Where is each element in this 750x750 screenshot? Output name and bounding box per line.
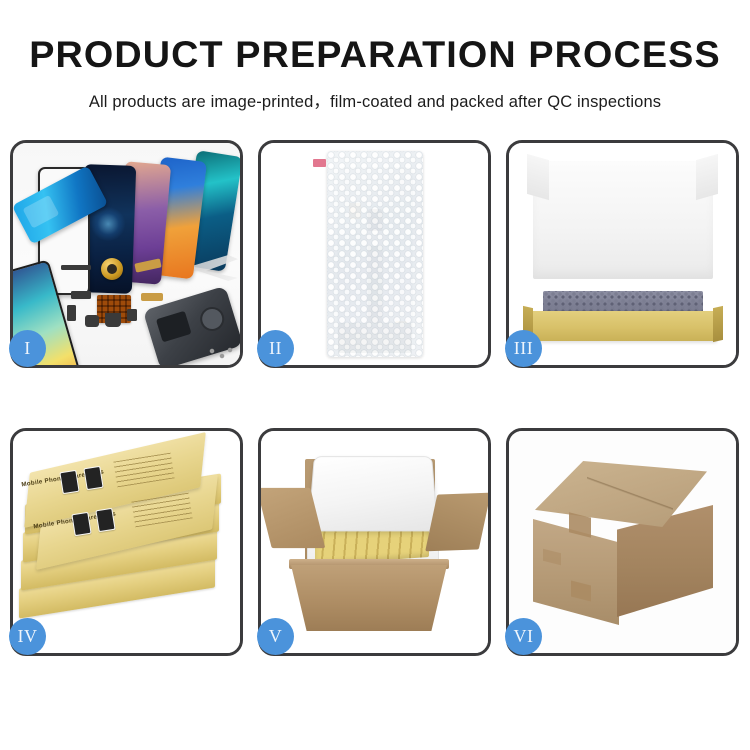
carton-front-panel xyxy=(291,565,447,631)
process-step-1: I xyxy=(10,140,243,368)
box-art-phone-a xyxy=(59,470,79,494)
carton-with-foam-box-image xyxy=(261,431,488,653)
flex-cable-part-b xyxy=(141,293,163,301)
carton-left-face xyxy=(533,519,619,625)
connector-part-a xyxy=(71,291,91,299)
button-part xyxy=(85,315,99,327)
step-badge-4: IV xyxy=(9,618,46,655)
process-step-4: Mobile Phone Spare Parts Mobile Phone Sp… xyxy=(10,428,243,656)
small-part-strip xyxy=(61,265,91,270)
bubble-wrap-overlay xyxy=(327,151,423,357)
box-art-phone-b xyxy=(83,466,103,490)
foam-box-lid xyxy=(308,456,438,531)
process-step-5: V xyxy=(258,428,491,656)
box-lid-left xyxy=(527,154,549,200)
box-art-phone-d xyxy=(95,508,115,532)
process-step-6: VI xyxy=(506,428,739,656)
step-badge-3: III xyxy=(505,330,542,367)
process-step-3: III xyxy=(506,140,739,368)
page-subtitle: All products are image-printed，film-coat… xyxy=(0,73,750,112)
carton-flap-right xyxy=(425,493,488,552)
kraft-box-tray xyxy=(529,311,717,341)
page-title: PRODUCT PREPARATION PROCESS xyxy=(0,0,750,73)
screws-part xyxy=(208,347,234,363)
box-lid-right xyxy=(696,154,718,200)
step-badge-2: II xyxy=(257,330,294,367)
step-badge-1: I xyxy=(9,330,46,367)
step-badge-6: VI xyxy=(505,618,542,655)
step-badge-5: V xyxy=(257,618,294,655)
sim-tray-part xyxy=(127,309,137,321)
speaker-part-icon xyxy=(101,258,123,280)
bubble-wrapped-screen-image xyxy=(261,143,488,365)
process-step-grid: I II III xyxy=(10,140,740,688)
open-kraft-box-with-foam-image xyxy=(509,143,736,365)
stacked-retail-boxes-image: Mobile Phone Spare Parts Mobile Phone Sp… xyxy=(13,431,240,653)
phone-screens-and-parts-image xyxy=(13,143,240,365)
product-preparation-infographic: PRODUCT PREPARATION PROCESS All products… xyxy=(0,0,750,750)
box-stack: Mobile Phone Spare Parts Mobile Phone Sp… xyxy=(15,449,240,639)
carton-top-seam xyxy=(587,463,673,525)
vibrator-part xyxy=(105,313,121,327)
connector-part-b xyxy=(67,305,76,321)
process-step-2: II xyxy=(258,140,491,368)
pink-qc-sticker xyxy=(313,159,326,167)
sealed-shipping-carton-image xyxy=(509,431,736,653)
box-art-phone-c xyxy=(71,512,91,536)
header: PRODUCT PREPARATION PROCESS All products… xyxy=(0,0,750,112)
foam-liner-back xyxy=(533,161,713,279)
